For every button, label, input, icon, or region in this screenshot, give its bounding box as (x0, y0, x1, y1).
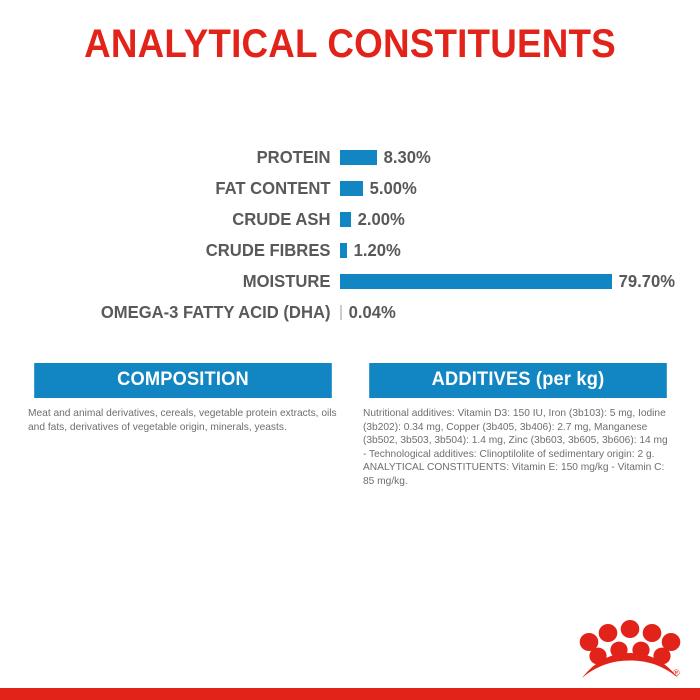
chart-row-label: MOISTURE (17, 271, 340, 292)
chart-bar-value: 0.04% (342, 302, 396, 323)
chart-bar-value: 8.30% (377, 147, 431, 168)
chart-row-crude-ash: CRUDE ASH 2.00% (0, 204, 700, 235)
chart-row-label: CRUDE ASH (17, 209, 340, 230)
chart-row-label: OMEGA-3 FATTY ACID (DHA) (17, 302, 340, 323)
chart-bar (340, 150, 377, 165)
registered-trademark-mark: ® (673, 668, 680, 678)
page-title: ANALYTICAL CONSTITUENTS (28, 22, 672, 67)
royal-canin-crown-logo: ® (578, 612, 682, 682)
additives-panel-body: Nutritional additives: Vitamin D3: 150 I… (363, 398, 673, 489)
chart-bar (340, 181, 363, 196)
chart-bar-wrap: 5.00% (340, 173, 700, 204)
analytical-constituents-chart: PROTEIN 8.30% FAT CONTENT 5.00% CRUDE AS… (0, 142, 700, 328)
additives-panel-header: ADDITIVES (per kg) (369, 363, 667, 398)
chart-bar (340, 274, 612, 289)
composition-panel-body: Meat and animal derivatives, cereals, ve… (28, 398, 338, 434)
crown-icon: ® (578, 612, 682, 682)
chart-row-protein: PROTEIN 8.30% (0, 142, 700, 173)
info-panels: COMPOSITION Meat and animal derivatives,… (28, 363, 673, 489)
chart-bar-wrap: 0.04% (340, 297, 700, 328)
chart-bar-value: 1.20% (347, 240, 401, 261)
chart-row-moisture: MOISTURE 79.70% (0, 266, 700, 297)
chart-row-omega-3-fatty-acid-dha: OMEGA-3 FATTY ACID (DHA) 0.04% (0, 297, 700, 328)
chart-bar-value: 79.70% (612, 271, 675, 292)
chart-bar-value: 5.00% (363, 178, 417, 199)
chart-bar-value: 2.00% (351, 209, 405, 230)
additives-panel: ADDITIVES (per kg) Nutritional additives… (363, 363, 673, 489)
chart-bar (340, 243, 347, 258)
chart-bar-wrap: 2.00% (340, 204, 700, 235)
chart-bar-wrap: 79.70% (340, 266, 700, 297)
chart-bar-wrap: 1.20% (340, 235, 700, 266)
chart-bar (340, 212, 351, 227)
chart-bar-wrap: 8.30% (340, 142, 700, 173)
chart-row-label: CRUDE FIBRES (17, 240, 340, 261)
page-root: ANALYTICAL CONSTITUENTS PROTEIN 8.30% FA… (0, 0, 700, 700)
composition-panel-header: COMPOSITION (34, 363, 332, 398)
composition-panel: COMPOSITION Meat and animal derivatives,… (28, 363, 338, 489)
chart-row-label: FAT CONTENT (17, 178, 340, 199)
chart-row-crude-fibres: CRUDE FIBRES 1.20% (0, 235, 700, 266)
chart-row-label: PROTEIN (17, 147, 340, 168)
bottom-accent-bar (0, 688, 700, 700)
chart-row-fat-content: FAT CONTENT 5.00% (0, 173, 700, 204)
